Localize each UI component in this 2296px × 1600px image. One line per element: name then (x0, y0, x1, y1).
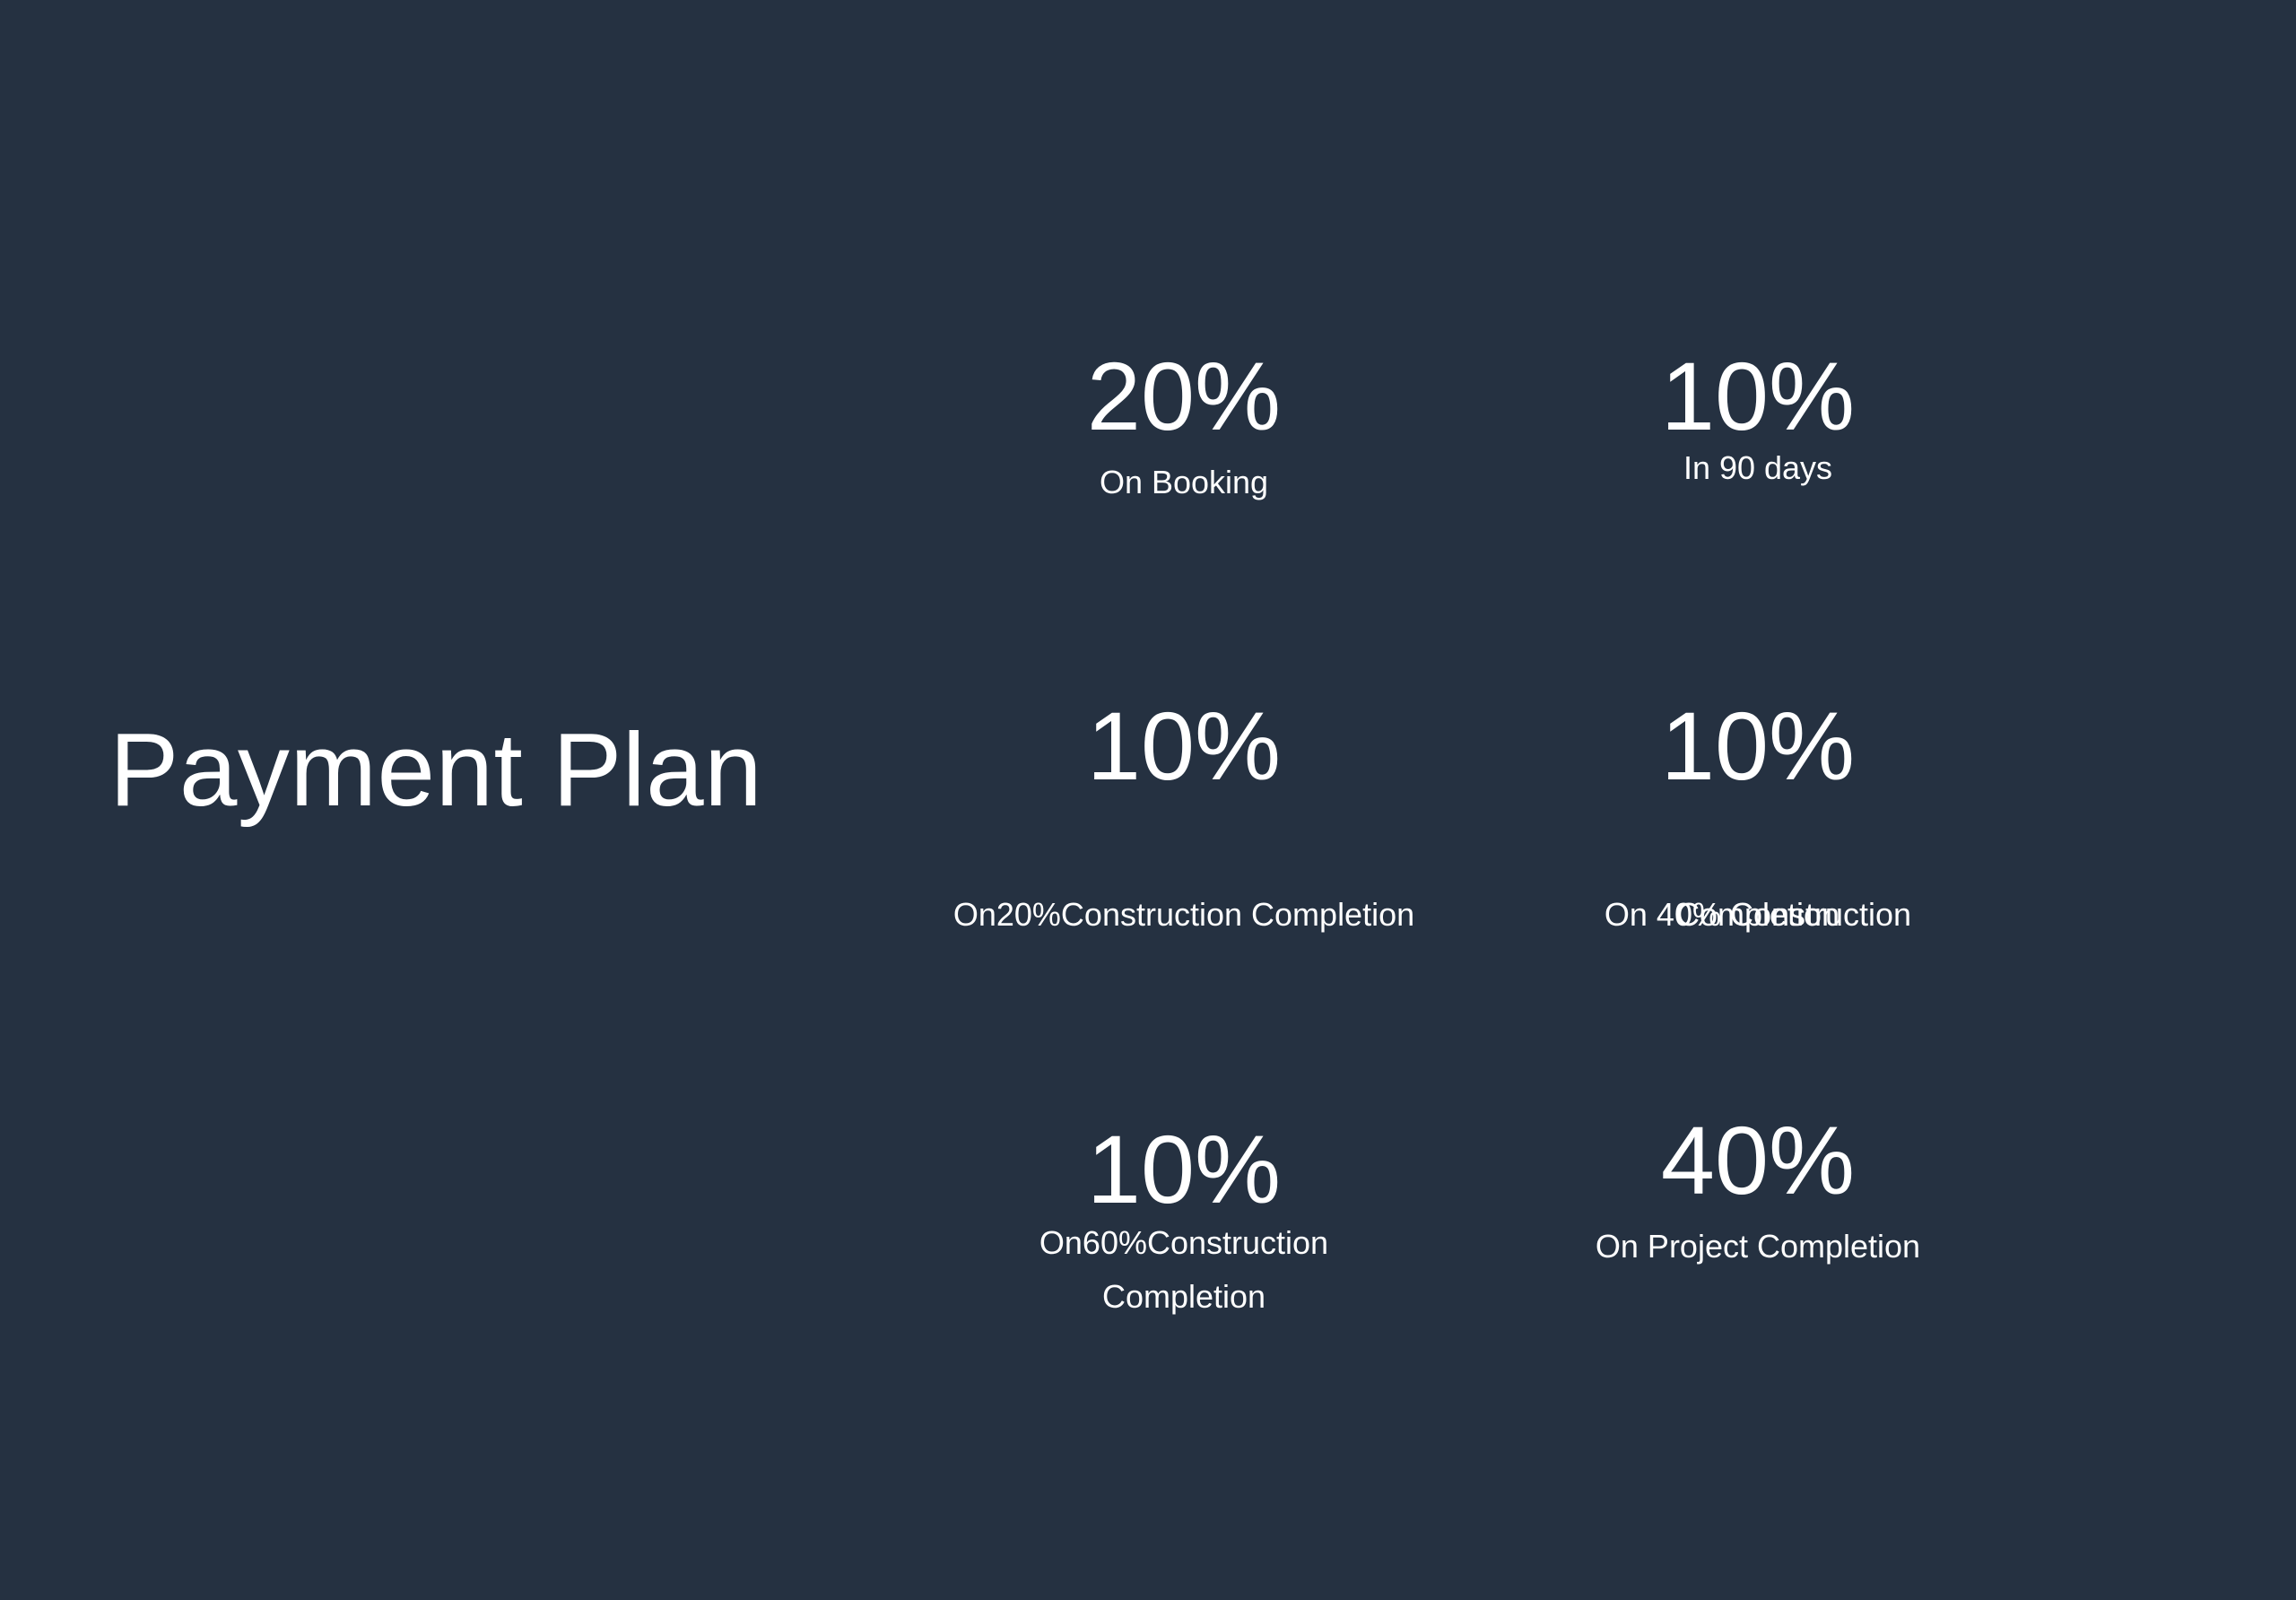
page-title: Payment Plan (109, 717, 845, 822)
milestone-percent: 10% (1471, 698, 2045, 795)
milestone-percent: 20% (897, 348, 1471, 445)
payment-plan-slide: Payment Plan 20% On Booking 10% In 90 da… (0, 0, 2296, 1600)
milestone-card: 10% In 90 days (1471, 305, 2045, 646)
milestone-label-line-2: Completion (897, 1270, 1471, 1324)
milestone-percent: 10% (897, 1121, 1471, 1218)
milestone-percent: 10% (897, 698, 1471, 795)
milestone-label-line-1: On60%Construction (897, 1216, 1471, 1270)
milestone-label: On Project Completion (1471, 1220, 2045, 1274)
milestone-label: On Booking (897, 456, 1471, 509)
milestone-label: In 90 days (1471, 441, 2045, 495)
milestone-percent: 10% (1471, 348, 2045, 445)
milestone-card: 10% On60%Construction Completion (897, 924, 1471, 1265)
milestone-percent: 40% (1471, 1112, 2045, 1209)
milestone-card: 20% On Booking (897, 305, 1471, 646)
milestone-card: 40% On Project Completion (1471, 924, 2045, 1265)
